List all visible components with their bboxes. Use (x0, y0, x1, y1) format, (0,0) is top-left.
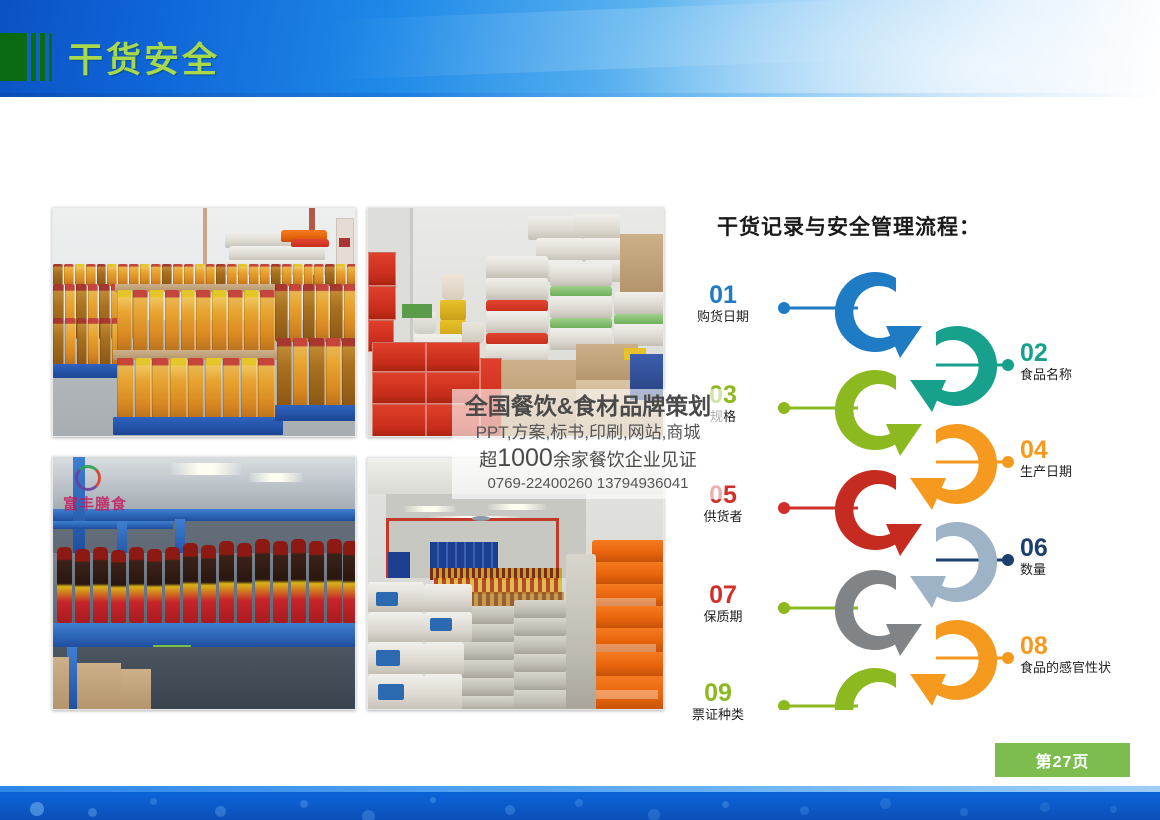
photo-content: 富丰膳食 进行严格的验货、登记和建立台帐 (53, 457, 355, 709)
flow-step-04-label: 生产日期 (1020, 463, 1072, 481)
flow-step-01-label: 购货日期 (678, 308, 768, 326)
watermark-line-3-number: 1000 (497, 444, 553, 472)
flow-step-06: 06 数量 (1020, 535, 1048, 579)
flow-ring-04 (910, 424, 997, 510)
flow-step-06-number: 06 (1020, 535, 1048, 561)
flow-step-09: 09 票证种类 (670, 680, 766, 724)
flow-ring-01 (835, 272, 922, 358)
flow-step-07-number: 07 (678, 582, 768, 608)
page-title: 干货安全 (68, 32, 220, 83)
slide-footer (0, 786, 1160, 820)
flow-step-02-number: 02 (1020, 340, 1072, 366)
photo-sauce-bottle-shelving: 富丰膳食 进行严格的验货、登记和建立台帐 (52, 456, 356, 710)
header-underline (0, 93, 1160, 97)
flow-step-08-number: 08 (1020, 633, 1111, 659)
flow-step-09-number: 09 (670, 680, 766, 706)
flow-step-09-label: 票证种类 (670, 706, 766, 724)
flow-step-02-label: 食品名称 (1020, 366, 1072, 384)
flow-step-08-label: 食品的感官性状 (1020, 659, 1111, 677)
photo-content (53, 208, 355, 436)
header-glow (560, 0, 1160, 160)
flow-ring-09 (835, 668, 922, 710)
flow-ring-05 (835, 470, 922, 556)
watermark-line-1: 全国餐饮&食材品牌策划 (452, 391, 724, 421)
mark-stripe-bars (22, 33, 52, 81)
flow-step-02: 02 食品名称 (1020, 340, 1072, 384)
flow-step-08: 08 食品的感官性状 (1020, 633, 1111, 677)
flow-ring-02 (910, 326, 997, 412)
flow-ring-07 (835, 570, 922, 656)
flow-ring-06 (910, 522, 997, 608)
mark-solid-block (0, 33, 22, 81)
flow-step-04-number: 04 (1020, 437, 1072, 463)
watermark-line-3-suffix: 余家餐饮企业见证 (553, 450, 697, 470)
watermark-line-3-prefix: 超 (479, 450, 497, 470)
flow-step-01: 01 购货日期 (678, 282, 768, 326)
flow-step-07-label: 保质期 (678, 608, 768, 626)
flow-step-07: 07 保质期 (678, 582, 768, 626)
flow-step-04: 04 生产日期 (1020, 437, 1072, 481)
flow-step-01-number: 01 (678, 282, 768, 308)
flow-step-05-label: 供货者 (678, 508, 768, 526)
diagram-title: 干货记录与安全管理流程： (717, 211, 981, 241)
watermark-line-2: PPT,方案,标书,印刷,网站,商城 (452, 421, 724, 445)
flow-ring-08 (910, 620, 997, 706)
flow-step-06-label: 数量 (1020, 561, 1048, 579)
photo-cooking-oil-warehouse (52, 207, 356, 437)
header-streak (330, 0, 950, 80)
page-number-badge: 第27页 (995, 743, 1130, 777)
green-bars-icon (0, 33, 52, 81)
watermark-line-3: 超1000余家餐饮企业见证 (452, 445, 724, 473)
photo-brand-watermark: 富丰膳食 (63, 493, 127, 514)
footer-top-highlight (0, 786, 1160, 792)
process-flow-diagram: 01 购货日期 02 食品名称 03 规格 04 生产日期 05 供货者 06 … (690, 260, 1160, 710)
watermark-overlay: 全国餐饮&食材品牌策划 PPT,方案,标书,印刷,网站,商城 超1000余家餐饮… (452, 389, 724, 499)
watermark-line-4: 0769-22400260 13794936041 (452, 473, 724, 495)
flow-ring-03 (835, 370, 922, 456)
